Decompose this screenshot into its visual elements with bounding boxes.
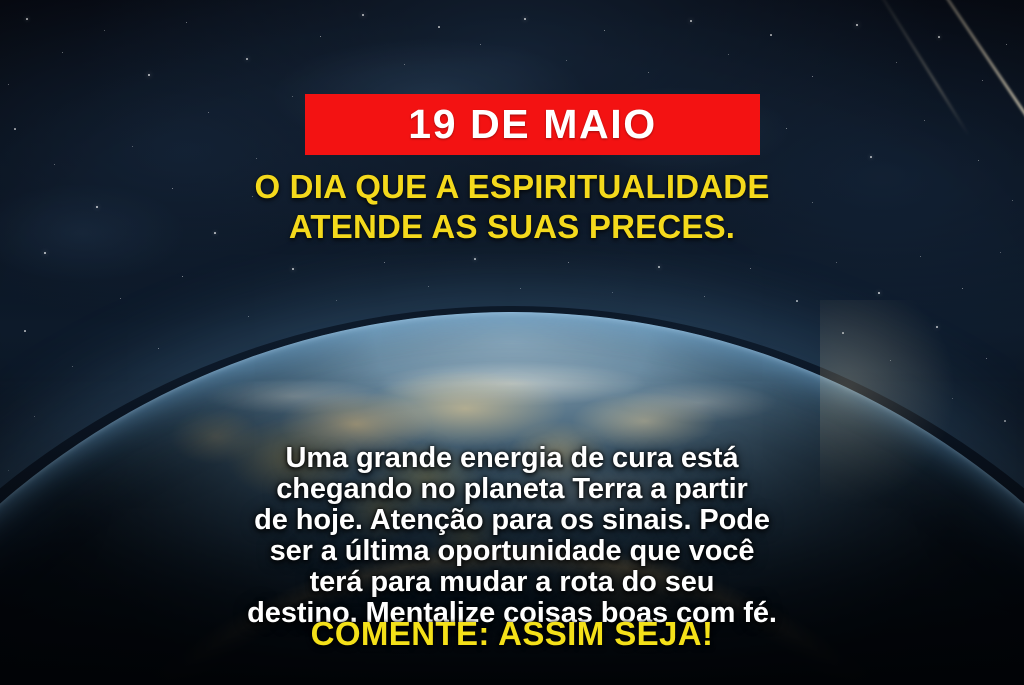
headline-line-2: ATENDE AS SUAS PRECES. xyxy=(0,207,1024,247)
body-copy-line-5: terá para mudar a rota do seu xyxy=(0,567,1024,598)
text-content-layer: 19 DE MAIO O DIA QUE A ESPIRITUALIDADE A… xyxy=(0,0,1024,685)
body-copy-line-2: chegando no planeta Terra a partir xyxy=(0,474,1024,505)
headline-line-1: O DIA QUE A ESPIRITUALIDADE xyxy=(0,167,1024,207)
body-copy-line-4: ser a última oportunidade que você xyxy=(0,536,1024,567)
headline: O DIA QUE A ESPIRITUALIDADE ATENDE AS SU… xyxy=(0,167,1024,247)
date-banner-label: 19 DE MAIO xyxy=(408,104,656,145)
body-copy-line-1: Uma grande energia de cura está xyxy=(0,443,1024,474)
call-to-action-text: COMENTE: ASSIM SEJA! xyxy=(0,615,1024,653)
date-banner: 19 DE MAIO xyxy=(305,94,760,155)
social-post-image: 19 DE MAIO O DIA QUE A ESPIRITUALIDADE A… xyxy=(0,0,1024,685)
body-copy: Uma grande energia de cura está chegando… xyxy=(0,443,1024,629)
body-copy-line-3: de hoje. Atenção para os sinais. Pode xyxy=(0,505,1024,536)
